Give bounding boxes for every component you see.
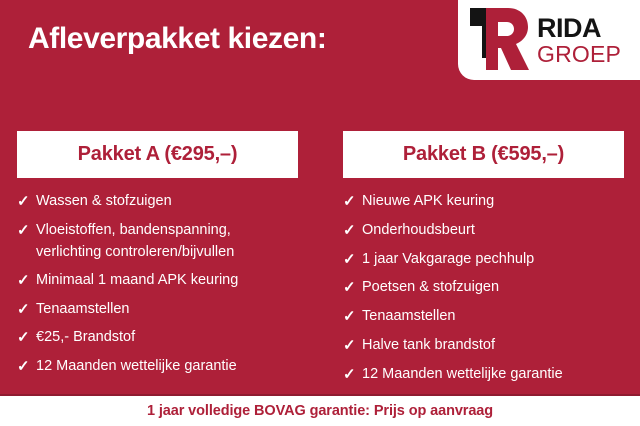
check-icon: ✓ (17, 191, 36, 213)
feature-label: 12 Maanden wettelijke garantie (362, 363, 624, 385)
check-icon: ✓ (343, 364, 362, 386)
banner-header: Afleverpakket kiezen: RIDA GROEP (0, 0, 640, 90)
feature-label: Tenaamstellen (362, 305, 624, 327)
feature-label: Onderhoudsbeurt (362, 219, 624, 241)
logo-name-secondary: GROEP (537, 43, 621, 66)
check-icon: ✓ (343, 277, 362, 299)
check-icon: ✓ (343, 335, 362, 357)
check-icon: ✓ (343, 249, 362, 271)
feature-label: Nieuwe APK keuring (362, 190, 624, 212)
list-item: ✓ 12 Maanden wettelijke garantie (17, 355, 298, 378)
rida-r-monogram-icon (468, 6, 530, 72)
feature-label: Wassen & stofzuigen (36, 190, 298, 212)
check-icon: ✓ (17, 220, 36, 242)
feature-label: Vloeistoffen, bandenspanning, verlichtin… (36, 219, 298, 263)
list-item: ✓ Minimaal 1 maand APK keuring (17, 269, 298, 292)
check-icon: ✓ (343, 306, 362, 328)
list-item: ✓ Vloeistoffen, bandenspanning, verlicht… (17, 219, 298, 263)
list-item: ✓ 12 Maanden wettelijke garantie (343, 363, 624, 386)
check-icon: ✓ (17, 270, 36, 292)
feature-label: Poetsen & stofzuigen (362, 276, 624, 298)
feature-label: Minimaal 1 maand APK keuring (36, 269, 298, 291)
footer-text: 1 jaar volledige BOVAG garantie: Prijs o… (147, 403, 493, 419)
package-a-title: Pakket A (€295,–) (78, 143, 238, 166)
check-icon: ✓ (343, 220, 362, 242)
footer-banner: 1 jaar volledige BOVAG garantie: Prijs o… (0, 396, 640, 426)
logo-wordmark: RIDA GROEP (537, 15, 621, 66)
package-b-feature-list: ✓ Nieuwe APK keuring ✓ Onderhoudsbeurt ✓… (343, 178, 624, 385)
feature-label: Tenaamstellen (36, 298, 298, 320)
page-title: Afleverpakket kiezen: (28, 22, 326, 56)
list-item: ✓ Tenaamstellen (343, 305, 624, 328)
afleverpakket-banner: Afleverpakket kiezen: RIDA GROEP Pakket … (0, 0, 640, 426)
check-icon: ✓ (17, 327, 36, 349)
check-icon: ✓ (343, 191, 362, 213)
logo-name-primary: RIDA (537, 15, 621, 42)
list-item: ✓ Tenaamstellen (17, 298, 298, 321)
list-item: ✓ Wassen & stofzuigen (17, 190, 298, 213)
package-a-header[interactable]: Pakket A (€295,–) (17, 131, 298, 178)
list-item: ✓ Halve tank brandstof (343, 334, 624, 357)
feature-label: 12 Maanden wettelijke garantie (36, 355, 298, 377)
list-item: ✓ Poetsen & stofzuigen (343, 276, 624, 299)
check-icon: ✓ (17, 299, 36, 321)
package-b-header[interactable]: Pakket B (€595,–) (343, 131, 624, 178)
package-column-a: Pakket A (€295,–) ✓ Wassen & stofzuigen … (17, 131, 298, 384)
package-column-b: Pakket B (€595,–) ✓ Nieuwe APK keuring ✓… (343, 131, 624, 391)
check-icon: ✓ (17, 356, 36, 378)
feature-label: 1 jaar Vakgarage pechhulp (362, 248, 624, 270)
package-a-feature-list: ✓ Wassen & stofzuigen ✓ Vloeistoffen, ba… (17, 178, 298, 378)
feature-label: €25,- Brandstof (36, 326, 298, 348)
list-item: ✓ €25,- Brandstof (17, 326, 298, 349)
list-item: ✓ 1 jaar Vakgarage pechhulp (343, 248, 624, 271)
package-b-title: Pakket B (€595,–) (403, 143, 564, 166)
rida-groep-logo: RIDA GROEP (458, 0, 640, 80)
list-item: ✓ Nieuwe APK keuring (343, 190, 624, 213)
list-item: ✓ Onderhoudsbeurt (343, 219, 624, 242)
feature-label: Halve tank brandstof (362, 334, 624, 356)
